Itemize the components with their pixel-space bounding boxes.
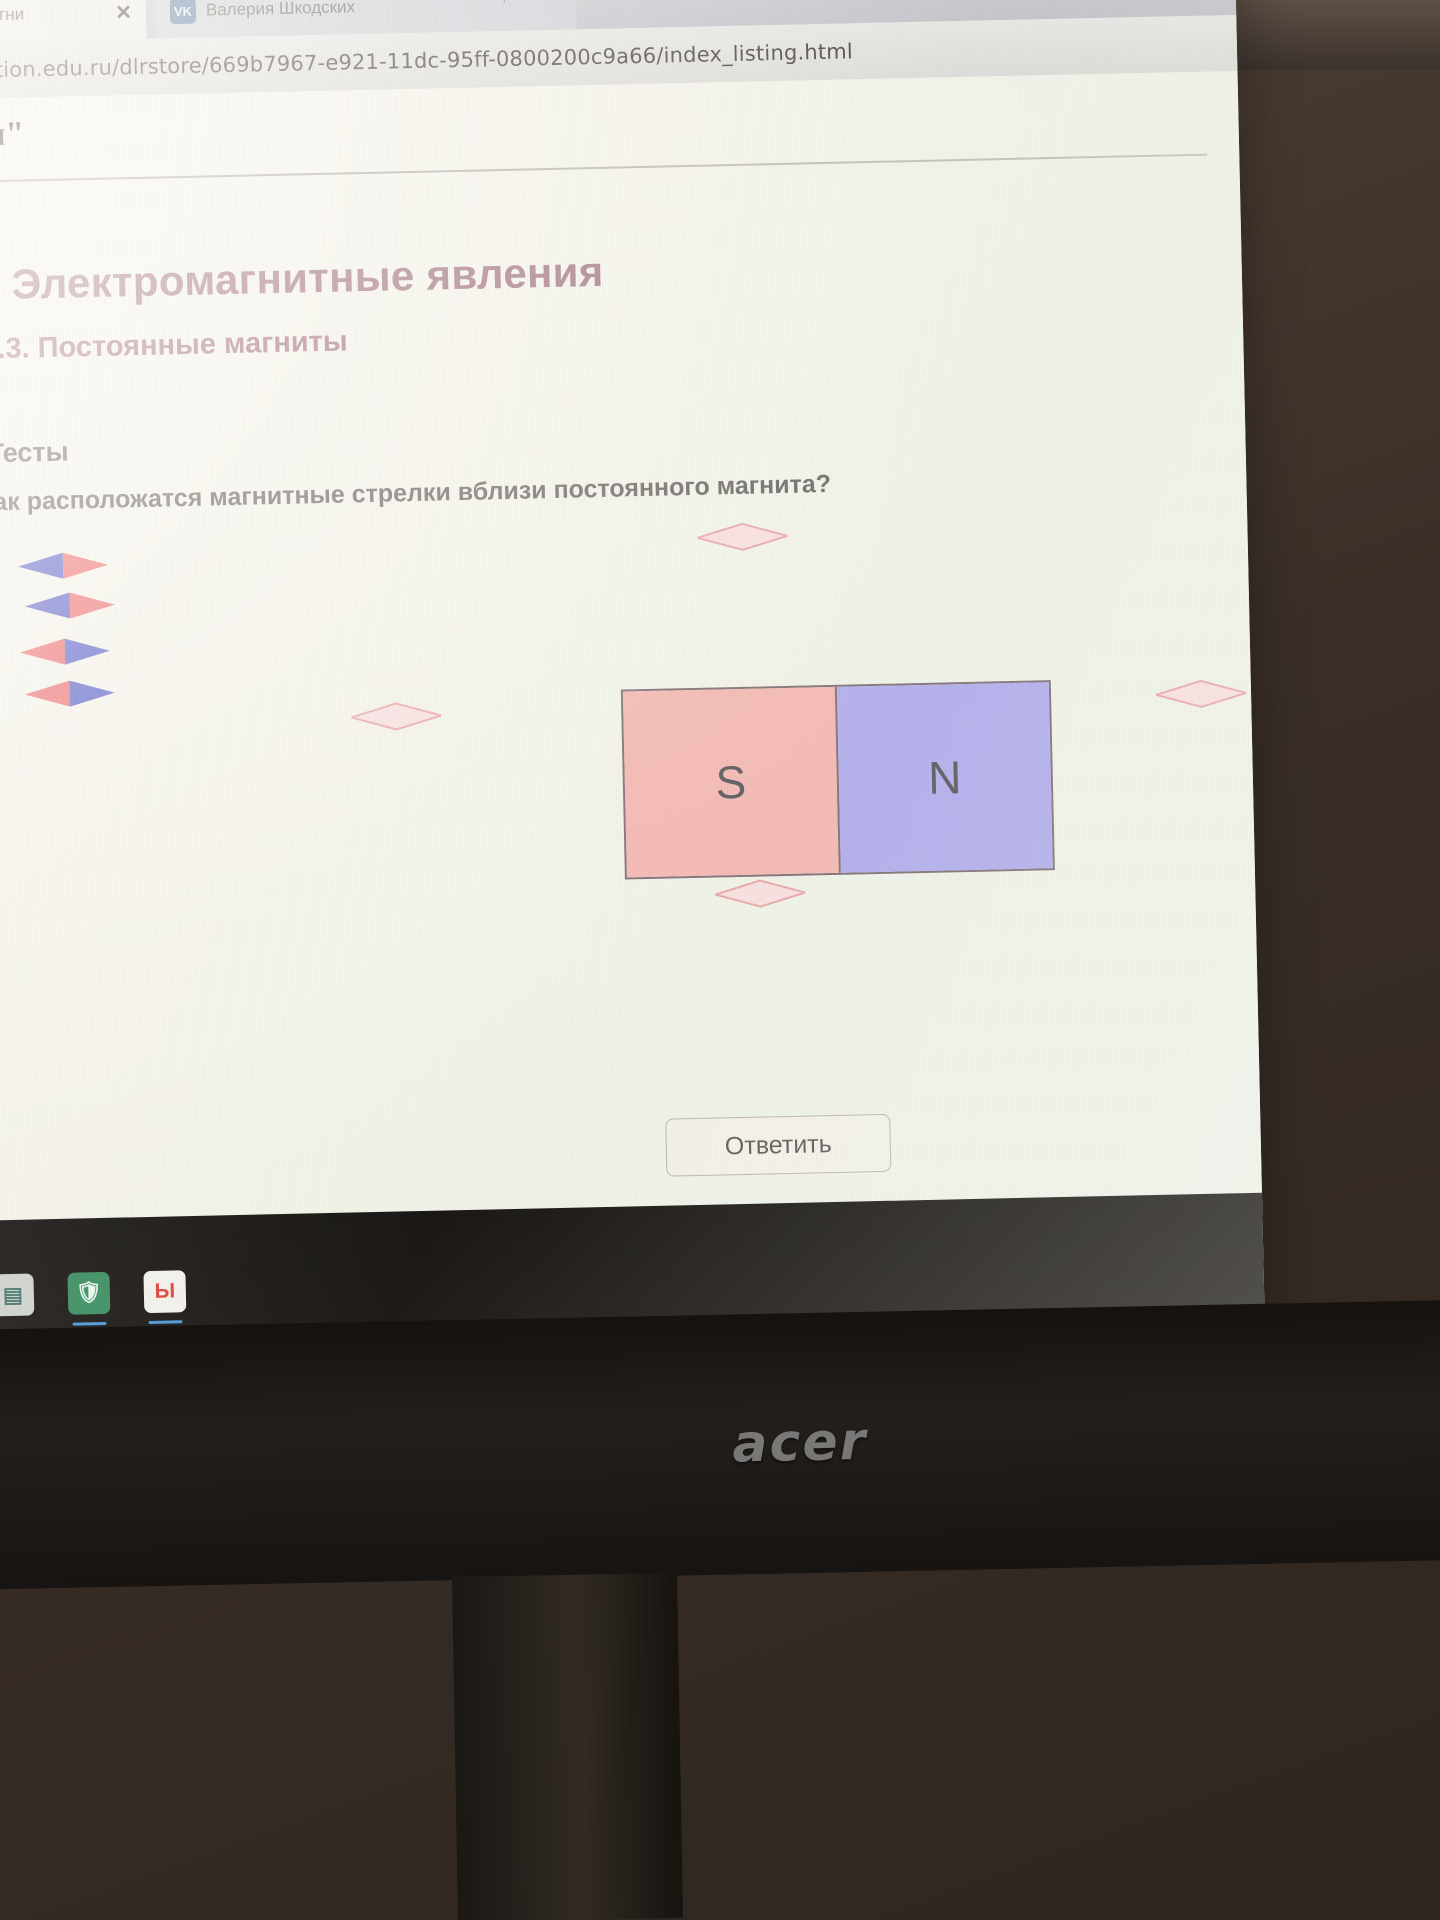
magnet-north-label: N — [928, 750, 962, 805]
tabstrip-separator — [503, 0, 505, 3]
monitor-stand — [452, 1573, 683, 1920]
web-page-content: агниты" 4. Электромагнитные явления 4.3.… — [0, 71, 1262, 1222]
tab-title: оку "Постоянные магни — [0, 4, 24, 28]
shield-icon-glyph: 🛡 — [75, 1281, 102, 1306]
yandex-browser-icon-glyph: Ы — [154, 1279, 175, 1303]
tab-close-icon[interactable]: ✕ — [115, 0, 132, 25]
desk-foreground — [0, 1745, 470, 1920]
needle-option-3[interactable] — [20, 634, 111, 670]
horizontal-rule — [0, 154, 1207, 183]
magnet-south-pole: S — [623, 687, 841, 878]
section-label-tests: Тесты — [0, 437, 69, 470]
running-indicator — [73, 1322, 107, 1326]
needle-right-of-magnet[interactable] — [1156, 676, 1247, 712]
photo-scene: оку "Постоянные магни ✕ VK Валерия Шкодс… — [0, 0, 1440, 1920]
document-title-fragment: агниты" — [0, 115, 25, 156]
monitor-screen: оку "Постоянные магни ✕ VK Валерия Шкодс… — [0, 0, 1265, 1372]
file-manager-icon[interactable]: ▤ — [0, 1274, 34, 1317]
running-indicator — [148, 1320, 182, 1324]
file-manager-icon-glyph: ▤ — [3, 1282, 23, 1307]
needle-option-2[interactable] — [25, 588, 116, 624]
question-text: 5) Как расположатся магнитные стрелки вб… — [0, 470, 831, 518]
magnet-south-label: S — [715, 755, 747, 810]
url-text: ool-collection.edu.ru/dlrstore/669b7967-… — [0, 39, 853, 84]
tab-title: Валерия Шкодских — [206, 0, 356, 20]
needle-above-magnet[interactable] — [697, 519, 788, 555]
page-title: 4. Электромагнитные явления — [0, 248, 604, 310]
monitor-bezel: acer — [0, 1300, 1440, 1590]
vk-icon: VK — [170, 0, 197, 24]
bar-magnet: S N — [621, 680, 1055, 879]
shield-icon[interactable]: 🛡 — [67, 1272, 110, 1315]
close-icon[interactable]: ✕ — [465, 0, 487, 3]
magnet-diagram: S N — [0, 501, 1257, 1010]
needle-option-1[interactable] — [18, 548, 109, 584]
page-subtitle: 4.3. Постоянные магниты — [0, 325, 348, 366]
new-tab-icon[interactable]: + — [525, 0, 546, 3]
needle-option-4[interactable] — [24, 676, 115, 712]
magnet-north-pole: N — [837, 682, 1053, 873]
needle-left-of-magnet[interactable] — [351, 698, 442, 734]
acer-logo: acer — [732, 1412, 868, 1475]
answer-button[interactable]: Ответить — [665, 1114, 891, 1177]
needle-below-magnet[interactable] — [715, 876, 806, 912]
yandex-browser-icon[interactable]: Ы — [143, 1270, 186, 1313]
